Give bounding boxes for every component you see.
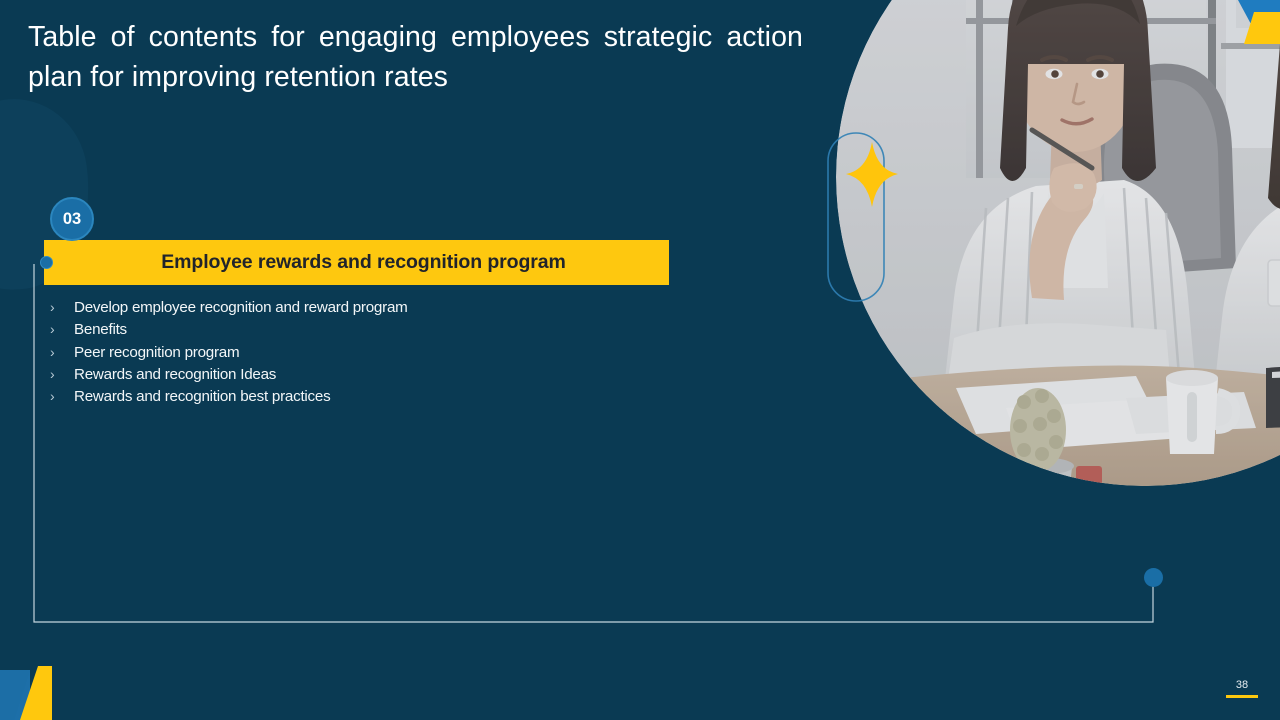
- chevron-right-icon: ›: [50, 318, 74, 340]
- section-number-badge: 03: [50, 197, 94, 241]
- list-item-label: Rewards and recognition Ideas: [74, 364, 276, 386]
- page-number-rule: [1226, 695, 1258, 698]
- list-item[interactable]: › Develop employee recognition and rewar…: [50, 296, 670, 318]
- list-item[interactable]: › Benefits: [50, 318, 670, 340]
- page-number-text: 38: [1226, 679, 1258, 692]
- connector-end-dot: [1144, 568, 1163, 587]
- list-item-label: Develop employee recognition and reward …: [74, 297, 408, 319]
- chevron-right-icon: ›: [50, 341, 74, 363]
- section-heading-banner[interactable]: Employee rewards and recognition program: [44, 240, 669, 285]
- chevron-right-icon: ›: [50, 363, 74, 385]
- section-heading-text: Employee rewards and recognition program: [147, 251, 566, 274]
- list-item[interactable]: › Rewards and recognition Ideas: [50, 363, 670, 385]
- list-item-label: Benefits: [74, 319, 127, 341]
- slide-canvas: Table of contents for engaging employees…: [0, 0, 1280, 720]
- banner-connector-dot: [40, 256, 53, 269]
- list-item[interactable]: › Peer recognition program: [50, 341, 670, 363]
- list-item-label: Peer recognition program: [74, 342, 239, 364]
- list-item[interactable]: › Rewards and recognition best practices: [50, 385, 670, 407]
- list-item-label: Rewards and recognition best practices: [74, 386, 330, 408]
- chevron-right-icon: ›: [50, 385, 74, 407]
- chevron-right-icon: ›: [50, 296, 74, 318]
- section-number-text: 03: [63, 210, 81, 229]
- section-items-list: › Develop employee recognition and rewar…: [50, 296, 670, 407]
- page-number: 38: [1226, 679, 1258, 698]
